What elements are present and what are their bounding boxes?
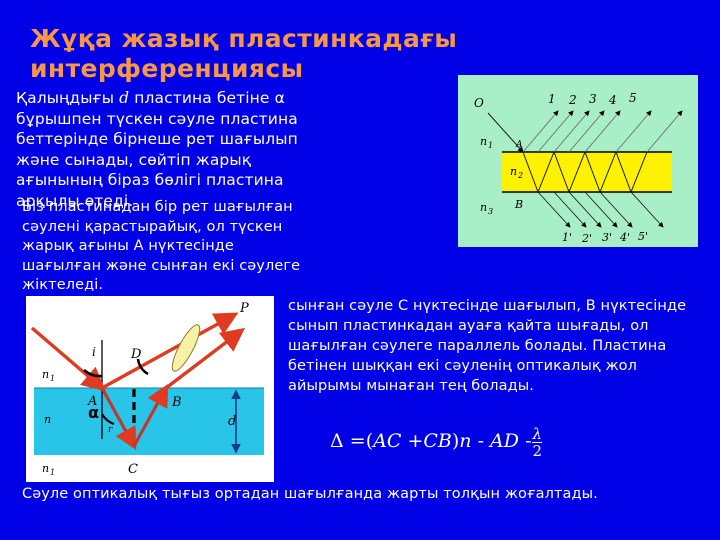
intro-variable-d: d (119, 89, 129, 107)
intro-symbol-alpha: α (275, 89, 285, 107)
ray-number-top-4: 4 (608, 93, 617, 107)
formula-plus: + (407, 430, 423, 452)
label-point-a: A (515, 140, 523, 150)
label-point-a-2: A (87, 394, 97, 409)
label-n3-subscript: 3 (488, 207, 493, 216)
paragraph-bottom: Сәуле оптикалық тығыз ортадан шағылғанда… (22, 485, 692, 505)
outgoing-bottom-rays (538, 192, 663, 227)
label-n1-subscript: 1 (488, 141, 493, 150)
label-n-figure2: n (44, 413, 51, 426)
label-n1-bottom-sub-figure2: 1 (50, 468, 55, 477)
page-title: Жұқа жазық пластинкадағы интерференциясы (30, 24, 460, 84)
paragraph-third: сынған сәуле С нүктесінде шағылып, В нүк… (288, 296, 712, 396)
figure-thin-film-path: P D i r α A B C d n 1 n n 1 (26, 296, 274, 482)
label-angle-r: r (108, 425, 113, 435)
formula-minus-2: - (525, 430, 531, 452)
formula-term-n: n (459, 430, 471, 452)
ray-number-bottom-5: 5' (638, 230, 648, 243)
ray-number-bottom-4: 4' (619, 231, 630, 244)
label-point-d: D (130, 347, 142, 362)
formula-equals: = (350, 430, 366, 452)
label-point-c: C (128, 462, 138, 477)
intro-text-pre: Қалыңдығы (16, 89, 119, 107)
ray-number-top-1: 1 (548, 92, 556, 106)
label-n1: n (480, 135, 487, 148)
outgoing-top-rays (523, 111, 682, 152)
formula-open-paren: ( (366, 430, 373, 452)
intro-text-mid: пластина бетіне (129, 89, 274, 107)
figure-multiple-reflection: O n 1 n 2 n 3 A B 1 2 3 4 5 1' 2' 3' 4' … (458, 75, 698, 247)
optical-path-difference-formula: Δ =(AC +CB)n - AD -λ2 (330, 428, 543, 459)
intro-text-rest: бұрышпен түскен сәуле пластина беттерінд… (16, 110, 298, 210)
label-point-p: P (239, 301, 249, 316)
ray-number-top-3: 3 (589, 92, 597, 106)
formula-lambda: λ (532, 428, 542, 441)
label-angle-i: i (92, 345, 96, 359)
ray-number-top-5: 5 (629, 91, 637, 105)
ray-number-bottom-3: 3' (602, 231, 612, 244)
paragraph-second: Біз пластинадан бір рет шағылған сәулені… (22, 198, 314, 296)
ray-number-top-2: 2 (568, 93, 577, 107)
label-point-b-2: B (171, 395, 182, 410)
label-n1-bottom-figure2: n (42, 462, 49, 475)
formula-minus-1: - (478, 430, 484, 452)
label-n1-figure2: n (42, 368, 49, 381)
formula-term-ac: AC (373, 430, 401, 452)
slide-canvas: Жұқа жазық пластинкадағы интерференциясы… (0, 0, 720, 540)
formula-fraction-lambda-over-2: λ2 (532, 428, 542, 459)
label-point-b: B (514, 198, 523, 211)
label-source-o: O (474, 96, 484, 110)
ray-number-bottom-1: 1' (562, 231, 572, 244)
formula-term-ad: AD (490, 430, 519, 452)
paragraph-intro: Қалыңдығы d пластина бетіне α бұрышпен т… (16, 88, 316, 211)
formula-denominator-two: 2 (532, 444, 542, 459)
label-n2-subscript: 2 (517, 171, 523, 180)
label-n2: n (510, 165, 517, 178)
label-n3: n (480, 201, 487, 214)
label-n1-sub-figure2: 1 (50, 374, 55, 383)
ray-number-bottom-2: 2' (581, 232, 592, 245)
formula-term-cb: CB (423, 430, 452, 452)
formula-delta: Δ (330, 430, 344, 452)
label-thickness-d: d (228, 414, 236, 429)
